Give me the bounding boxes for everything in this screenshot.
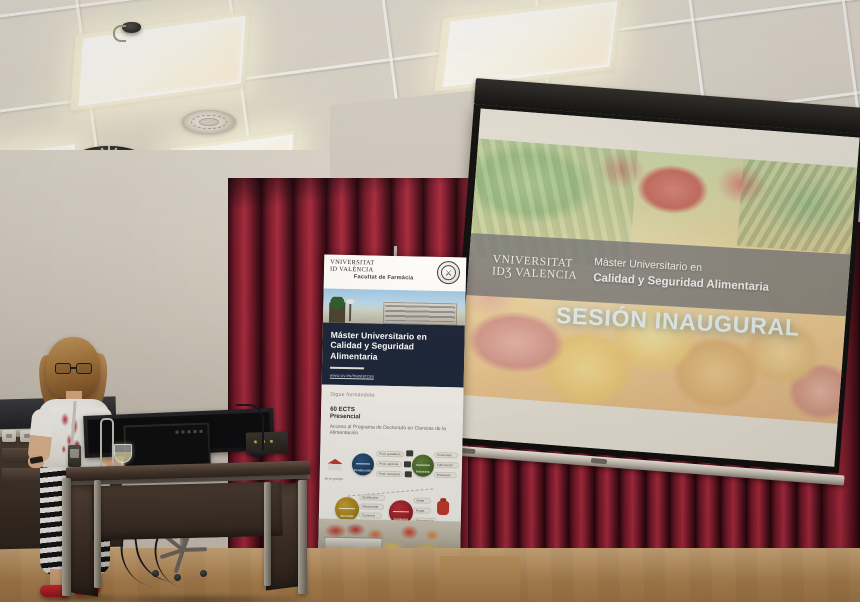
desk-leg-back-left: [94, 480, 101, 588]
computer-monitor[interactable]: [123, 423, 210, 470]
slide-greens-right: [737, 159, 857, 255]
gooseneck-microphone[interactable]: [236, 404, 266, 460]
smoke-detector-icon: [122, 22, 141, 33]
banner-tagline: Sigue formándote: [330, 392, 455, 401]
chip-procesado: Procesado: [434, 452, 458, 459]
presenter-desk: [58, 448, 310, 602]
desk-leg-back-right: [264, 482, 271, 586]
desk-handle-rail[interactable]: [100, 418, 114, 472]
chip-almacenaje: Almacenaje: [359, 503, 384, 510]
banner-title: Máster Universitario en Calidad y Seguri…: [330, 330, 458, 364]
chip-hogar: Hogar: [413, 507, 431, 513]
screen-surface: VNIVERSITAT IDƷ VALENCIA Màster Universi…: [455, 109, 859, 467]
slide-program-text: Màster Universitario en Calidad y Seguri…: [593, 255, 770, 297]
projection-screen: VNIVERSITAT IDƷ VALENCIA Màster Universi…: [446, 104, 860, 503]
node-produccion-label: Producción: [354, 468, 372, 472]
banner-title-block: Máster Universitario en Calidad y Seguri…: [322, 323, 465, 388]
chip-prod-ganadera: Prod. ganadera: [376, 451, 404, 458]
node-industria-label: Industria: [416, 470, 430, 474]
eyeglasses-icon: [55, 363, 91, 372]
chip-distribucion: Distribución: [359, 494, 385, 501]
air-diffuser-icon: [182, 110, 236, 134]
banner-header: VNIVERSITAT ID VALÈNCIA Facultat de Farm…: [324, 255, 467, 292]
banner-url[interactable]: www.uv.es/mastercsa: [330, 373, 457, 381]
room-floor-right: [440, 556, 520, 602]
banner-mode-value: Presencial: [330, 413, 455, 423]
desk-shadow: [76, 594, 316, 602]
power-outlet-1[interactable]: [2, 430, 16, 442]
desk-leg-front-left: [62, 478, 71, 596]
chip-prod-agricola: Prod. agrícola: [376, 461, 402, 468]
cow-icon: [406, 450, 413, 456]
banner-rule: [330, 367, 364, 369]
chip-fabricacion: Fabricación: [434, 462, 459, 469]
banner-access-text: Acceso al Programa de Doctorado en Cienc…: [330, 423, 455, 439]
uv-logo-slide: VNIVERSITAT IDƷ VALENCIA: [460, 252, 578, 283]
lecture-hall-photo: VNIVERSITAT IDƷ VALENCIA Màster Universi…: [0, 0, 860, 602]
node-produccion: Producción: [352, 453, 374, 475]
projected-slide: VNIVERSITAT IDƷ VALENCIA Màster Universi…: [459, 138, 858, 424]
chip-prod-pesquera: Prod. pesquera: [376, 471, 403, 478]
farm-icon: [328, 459, 342, 471]
node-mercado: Mercado: [335, 497, 359, 521]
desk-apron: [91, 482, 282, 541]
screen-border: VNIVERSITAT IDƷ VALENCIA Màster Universi…: [448, 104, 860, 473]
banner-credits: 60 ECTS Presencial: [330, 406, 455, 423]
node-industria: Industria: [412, 454, 434, 476]
chip-comercio: Comercio: [359, 512, 382, 518]
shopping-bag-icon: [437, 501, 449, 515]
chip-envasado: Envasado: [434, 472, 457, 478]
banner-body: VNIVERSITAT ID VALÈNCIA Facultat de Farm…: [318, 255, 467, 576]
tractor-icon: [404, 461, 411, 467]
chip-venta: Venta: [413, 497, 431, 503]
roll-up-banner: VNIVERSITAT ID VALÈNCIA Facultat de Farm…: [318, 255, 467, 576]
fish-icon: [405, 471, 412, 477]
banner-info-block: Sigue formándote 60 ECTS Presencial Acce…: [318, 385, 464, 576]
node-mercado-label: Mercado: [340, 514, 353, 518]
banner-building-photo: [323, 289, 466, 326]
desk-leg-front-right: [298, 480, 307, 594]
infographic-from-label: de la granja...: [325, 477, 346, 481]
